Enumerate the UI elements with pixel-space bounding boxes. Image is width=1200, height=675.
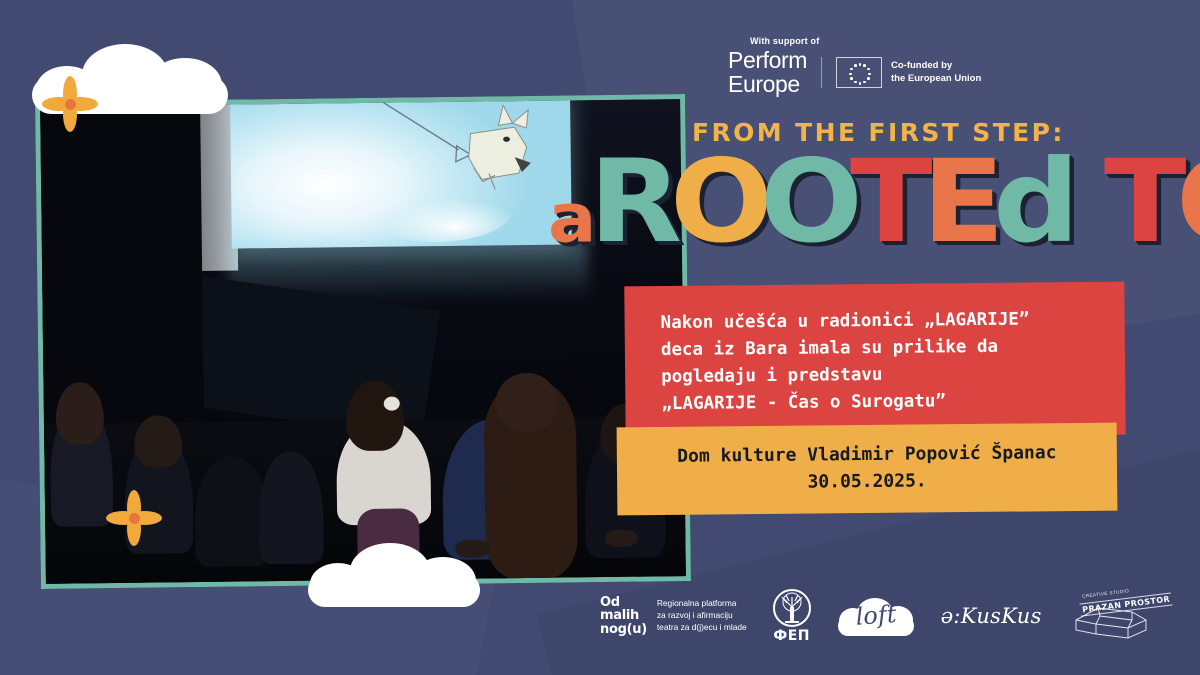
flower-icon bbox=[48, 82, 92, 126]
cloud-icon bbox=[306, 543, 482, 605]
eu-star bbox=[850, 77, 853, 80]
title-letter-2: O bbox=[670, 146, 771, 260]
od-malih-nogu-wordmark: Od malih nog(u) bbox=[600, 596, 647, 636]
perform-europe-line2: Europe bbox=[728, 73, 807, 97]
title-letter-8: T bbox=[1104, 146, 1184, 260]
perform-europe-logo: Perform Europe bbox=[728, 49, 807, 97]
omn-line-3: nog(u) bbox=[600, 623, 647, 636]
perform-europe-line1: Perform bbox=[728, 49, 807, 73]
poster-canvas: With support of Perform Europe Co-funded… bbox=[0, 0, 1200, 675]
eu-star bbox=[854, 81, 857, 84]
partner-logos: Od malih nog(u) Regionalna platforma za … bbox=[600, 585, 1154, 647]
logo-od-malih-nogu: Od malih nog(u) Regionalna platforma za … bbox=[600, 596, 747, 636]
logo-prazan-prostor: CREATIVE STUDIO PRAZAN PROSTOR bbox=[1068, 590, 1154, 642]
eu-star bbox=[867, 68, 870, 71]
projection-screen bbox=[230, 94, 572, 248]
support-label: With support of bbox=[750, 36, 819, 46]
credit-row: Perform Europe Co-funded by the European… bbox=[728, 49, 981, 97]
omn-line-2: malih bbox=[600, 609, 647, 622]
title-letter-4: T bbox=[850, 146, 930, 260]
od-malih-nogu-tagline: Regionalna platforma za razvoj i afirmac… bbox=[657, 598, 747, 634]
eu-credit: Co-funded by the European Union bbox=[821, 57, 981, 88]
tree-icon-svg bbox=[775, 591, 809, 625]
omn-line-1: Od bbox=[600, 596, 647, 609]
eu-star bbox=[868, 73, 871, 76]
eu-star bbox=[863, 81, 866, 84]
tree-icon bbox=[773, 589, 811, 627]
logo-fep: ФЕП bbox=[773, 589, 811, 644]
page-title: aROOTEd TOUR bbox=[548, 152, 1188, 260]
eu-line-1: Co-funded by bbox=[891, 60, 981, 73]
eu-credit-text: Co-funded by the European Union bbox=[891, 60, 981, 85]
eu-star bbox=[849, 73, 852, 76]
audience-child-hairclip bbox=[384, 397, 400, 411]
european-union-flag-icon bbox=[836, 57, 882, 88]
venue-box: Dom kulture Vladimir Popović Španac 30.0… bbox=[617, 423, 1118, 516]
funding-credit: With support of Perform Europe Co-funded… bbox=[728, 36, 981, 97]
audience-child-hand bbox=[605, 530, 637, 547]
eu-star bbox=[850, 68, 853, 71]
eu-star bbox=[859, 82, 862, 85]
eu-star bbox=[854, 64, 857, 67]
title-letter-5: E bbox=[922, 146, 1002, 260]
logo-loft: loft bbox=[837, 592, 915, 640]
title-letter-1: R bbox=[589, 146, 680, 260]
fep-label: ФЕП bbox=[773, 628, 811, 644]
loft-label: loft bbox=[854, 600, 897, 631]
title-letter-3: O bbox=[760, 146, 861, 260]
flower-icon bbox=[112, 496, 156, 540]
title-letter-9: O bbox=[1176, 146, 1200, 260]
title-letter-0: a bbox=[548, 185, 594, 253]
logo-kuskus: ǝ:KusKus bbox=[941, 604, 1042, 628]
eu-line-2: the European Union bbox=[891, 73, 981, 86]
title-letter-7 bbox=[1069, 146, 1109, 260]
description-box: Nakon učešća u radionici „LAGARIJE” deca… bbox=[624, 282, 1125, 439]
venue-place: Dom kulture Vladimir Popović Španac bbox=[635, 439, 1099, 470]
description-text: Nakon učešća u radionici „LAGARIJE” deca… bbox=[661, 306, 1096, 419]
projected-goat-illustration bbox=[230, 94, 572, 248]
venue-date: 30.05.2025. bbox=[635, 466, 1099, 497]
eu-star bbox=[863, 64, 866, 67]
eu-star bbox=[859, 63, 862, 66]
eu-star bbox=[867, 77, 870, 80]
title-letter-6: d bbox=[993, 146, 1077, 260]
